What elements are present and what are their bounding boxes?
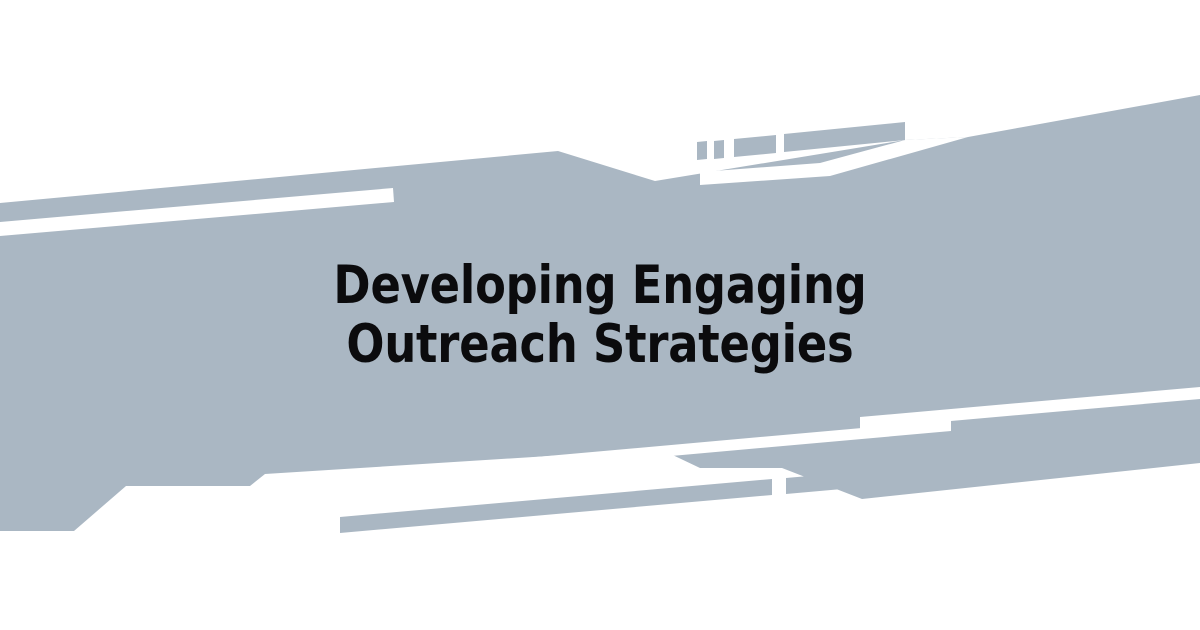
dash-segment-2 xyxy=(714,140,724,159)
dash-segment-1 xyxy=(697,141,707,160)
decorative-background-graphic xyxy=(0,0,1200,630)
banner-card: Developing Engaging Outreach Strategies xyxy=(0,0,1200,630)
